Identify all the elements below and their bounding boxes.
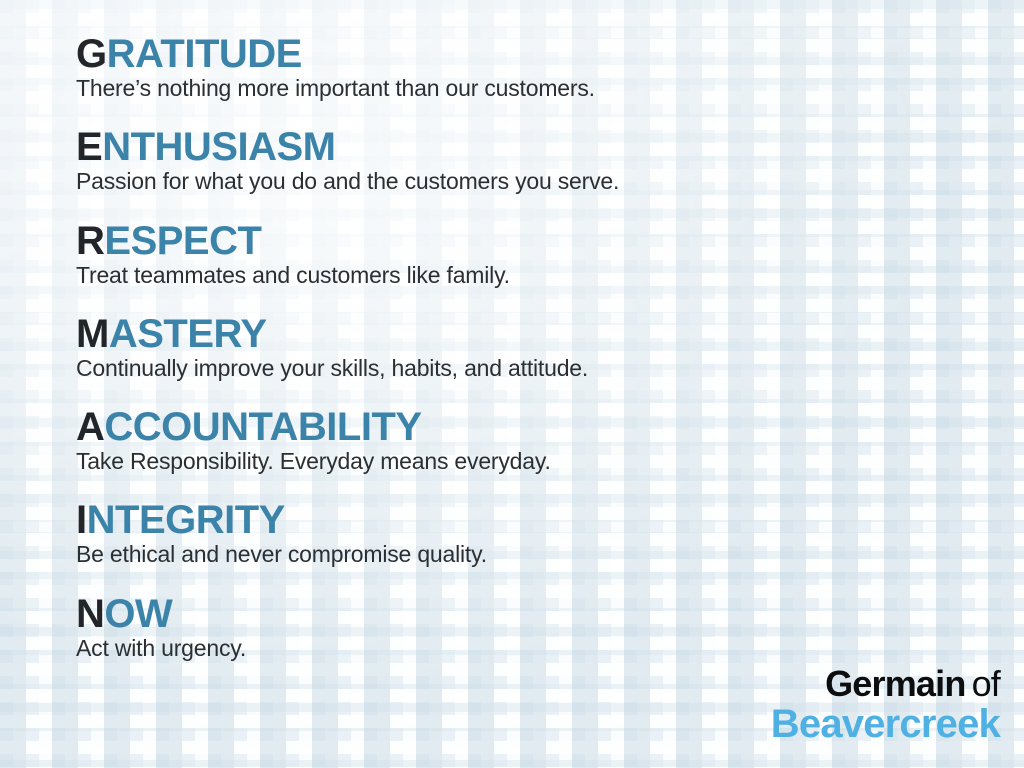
value-heading: MASTERY [76, 314, 1004, 354]
value-heading-rest: NTEGRITY [87, 498, 285, 542]
value-initial-letter: N [76, 592, 104, 636]
value-initial-letter: E [76, 125, 102, 169]
value-item: NOW Act with urgency. [76, 594, 1004, 661]
value-heading: ENTHUSIASM [76, 127, 1004, 167]
logo-top-line: Germainof [771, 666, 1000, 702]
value-heading-rest: ESPECT [104, 219, 261, 263]
value-initial-letter: R [76, 219, 104, 263]
value-heading-rest: RATITUDE [107, 32, 302, 76]
company-logo: Germainof Beavercreek [771, 666, 1000, 744]
value-item: GRATITUDE There’s nothing more important… [76, 34, 1004, 101]
value-heading: RESPECT [76, 221, 1004, 261]
value-heading-rest: ASTERY [109, 312, 267, 356]
value-tagline: Passion for what you do and the customer… [76, 169, 1004, 194]
logo-connector: of [972, 663, 1000, 704]
value-heading-rest: NTHUSIASM [102, 125, 335, 169]
value-item: RESPECT Treat teammates and customers li… [76, 221, 1004, 288]
value-tagline: There’s nothing more important than our … [76, 76, 1004, 101]
value-heading: GRATITUDE [76, 34, 1004, 74]
value-tagline: Act with urgency. [76, 636, 1004, 661]
value-initial-letter: A [76, 405, 104, 449]
value-item: ENTHUSIASM Passion for what you do and t… [76, 127, 1004, 194]
value-heading-rest: CCOUNTABILITY [104, 405, 421, 449]
value-item: INTEGRITY Be ethical and never compromis… [76, 500, 1004, 567]
value-initial-letter: G [76, 32, 107, 76]
value-tagline: Take Responsibility. Everyday means ever… [76, 449, 1004, 474]
core-values-list: GRATITUDE There’s nothing more important… [76, 34, 1004, 671]
value-tagline: Treat teammates and customers like famil… [76, 263, 1004, 288]
values-board: GRATITUDE There’s nothing more important… [0, 0, 1024, 768]
value-heading: ACCOUNTABILITY [76, 407, 1004, 447]
value-heading-rest: OW [104, 592, 172, 636]
value-tagline: Be ethical and never compromise quality. [76, 542, 1004, 567]
value-initial-letter: I [76, 498, 87, 542]
value-item: MASTERY Continually improve your skills,… [76, 314, 1004, 381]
value-tagline: Continually improve your skills, habits,… [76, 356, 1004, 381]
logo-location: Beavercreek [771, 704, 1000, 744]
logo-name: Germain [825, 663, 965, 704]
value-heading: INTEGRITY [76, 500, 1004, 540]
value-item: ACCOUNTABILITY Take Responsibility. Ever… [76, 407, 1004, 474]
value-initial-letter: M [76, 312, 109, 356]
value-heading: NOW [76, 594, 1004, 634]
